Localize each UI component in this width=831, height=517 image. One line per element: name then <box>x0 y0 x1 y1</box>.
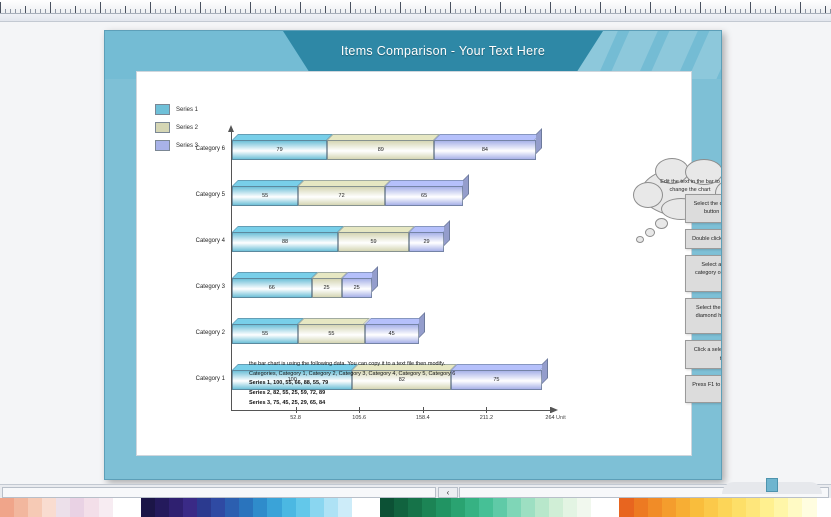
status-widget[interactable] <box>722 478 822 494</box>
palette-swatch[interactable] <box>619 498 633 517</box>
ruler-tick <box>700 2 701 13</box>
bar-segment-value: 65 <box>385 186 463 206</box>
data-text-intro: the bar chart is using the following dat… <box>249 360 609 370</box>
top-ruler <box>0 0 831 14</box>
bar-segment[interactable]: 65 <box>385 186 463 206</box>
ruler-tick <box>340 9 341 13</box>
ruler-tick <box>435 9 436 13</box>
ruler-tick <box>655 9 656 13</box>
palette-swatch[interactable] <box>634 498 648 517</box>
y-axis-arrow <box>228 125 234 132</box>
x-axis-tick-label: 158.4 <box>416 415 430 421</box>
data-text-series-3: Series 3, 75, 45, 25, 29, 65, 84 <box>249 399 609 409</box>
ruler-tick <box>215 9 216 13</box>
category-axis-label: Category 4 <box>173 238 225 244</box>
ruler-tick <box>615 9 616 13</box>
palette-swatch[interactable] <box>507 498 521 517</box>
ruler-tick <box>410 9 411 13</box>
ruler-tick <box>455 9 456 13</box>
bar-segment-value: 88 <box>232 232 338 252</box>
palette-swatch[interactable] <box>183 498 197 517</box>
bar-segment[interactable]: 59 <box>338 232 409 252</box>
palette-swatch[interactable] <box>352 498 366 517</box>
ruler-tick <box>765 9 766 13</box>
bar-segment[interactable]: 55 <box>232 324 298 344</box>
bar-segment-value: 55 <box>298 324 364 344</box>
bubble-tail-dot <box>636 236 644 243</box>
instruction-tip[interactable]: Select the chart and move the yellow dia… <box>685 298 722 335</box>
data-text-series-1: Series 1, 100, 55, 66, 88, 55, 79 <box>249 379 609 389</box>
scroll-track-left[interactable] <box>2 487 436 498</box>
ruler-tick <box>165 9 166 13</box>
ruler-tick <box>575 6 576 13</box>
ruler-tick <box>585 9 586 13</box>
ruler-tick <box>90 9 91 13</box>
palette-swatch[interactable] <box>704 498 718 517</box>
palette-swatch[interactable] <box>394 498 408 517</box>
bar-segment[interactable]: 72 <box>298 186 385 206</box>
x-axis-line <box>231 410 553 411</box>
ruler-tick <box>510 9 511 13</box>
palette-swatch[interactable] <box>549 498 563 517</box>
ruler-tick <box>335 9 336 13</box>
ruler-tick <box>470 9 471 13</box>
palette-swatch[interactable] <box>225 498 239 517</box>
ruler-tick <box>220 9 221 13</box>
ruler-tick <box>520 9 521 13</box>
ruler-tick <box>500 2 501 13</box>
palette-swatch[interactable] <box>662 498 676 517</box>
slide-canvas[interactable]: Items Comparison - Your Text Here Series… <box>104 30 722 480</box>
bar-segment-side-face <box>419 312 425 338</box>
ruler-tick <box>115 9 116 13</box>
palette-swatch[interactable] <box>577 498 591 517</box>
x-axis-tick-label: 211.2 <box>480 415 493 421</box>
ruler-tick <box>730 9 731 13</box>
status-tab[interactable] <box>766 478 778 492</box>
ruler-tick <box>535 9 536 13</box>
page-title: Items Comparison - Your Text Here <box>341 44 545 58</box>
palette-swatch[interactable] <box>84 498 98 517</box>
palette-swatch[interactable] <box>802 498 816 517</box>
ruler-tick <box>70 9 71 13</box>
ruler-tick <box>805 9 806 13</box>
ruler-tick <box>355 9 356 13</box>
ruler-tick <box>550 2 551 13</box>
bar-segment[interactable]: 29 <box>409 232 444 252</box>
ruler-tick <box>5 9 6 13</box>
ruler-tick <box>525 6 526 13</box>
bar-segment-side-face <box>463 174 469 200</box>
x-axis-tick-label: 264 <box>545 415 554 421</box>
bar-segment-value: 25 <box>312 278 342 298</box>
bar-segment-side-face <box>444 220 450 246</box>
palette-swatch[interactable] <box>267 498 281 517</box>
ruler-tick <box>685 9 686 13</box>
ruler-tick <box>250 2 251 13</box>
ruler-tick <box>745 9 746 13</box>
ruler-tick <box>15 9 16 13</box>
horizontal-scroll-area: ‹ <box>0 484 831 498</box>
bar-segment[interactable]: 88 <box>232 232 338 252</box>
palette-swatch[interactable] <box>774 498 788 517</box>
ruler-tick <box>95 9 96 13</box>
ruler-tick <box>460 9 461 13</box>
bubble-tail-dot <box>645 228 655 237</box>
ruler-tick <box>800 2 801 13</box>
bar-segment[interactable]: 89 <box>327 140 434 160</box>
ruler-tick <box>595 9 596 13</box>
ruler-tick <box>365 9 366 13</box>
palette-swatch[interactable] <box>197 498 211 517</box>
ruler-tick <box>795 9 796 13</box>
palette-swatch[interactable] <box>493 498 507 517</box>
ruler-tick <box>710 9 711 13</box>
palette-swatch[interactable] <box>169 498 183 517</box>
bar-segment[interactable]: 55 <box>298 324 364 344</box>
ruler-tick <box>385 9 386 13</box>
ruler-tick <box>450 2 451 13</box>
ruler-tick <box>295 9 296 13</box>
ruler-tick <box>195 9 196 13</box>
ruler-tick <box>145 9 146 13</box>
palette-swatch[interactable] <box>253 498 267 517</box>
palette-swatch[interactable] <box>788 498 802 517</box>
ruler-tick <box>245 9 246 13</box>
ruler-tick <box>100 2 101 13</box>
ruler-tick <box>300 2 301 13</box>
bar-segment-side-face <box>372 266 378 292</box>
x-axis-tick-label: 105.6 <box>352 415 366 421</box>
ruler-tick <box>760 9 761 13</box>
bubble-tail-dot <box>655 218 668 229</box>
ruler-tick <box>120 9 121 13</box>
palette-swatch[interactable] <box>42 498 56 517</box>
ruler-tick <box>625 6 626 13</box>
palette-swatch[interactable] <box>535 498 549 517</box>
ruler-tick <box>125 6 126 13</box>
palette-swatch[interactable] <box>338 498 352 517</box>
ruler-tick <box>170 9 171 13</box>
palette-swatch[interactable] <box>282 498 296 517</box>
bar-segment-value: 25 <box>342 278 372 298</box>
ruler-tick <box>720 9 721 13</box>
palette-swatch[interactable] <box>408 498 422 517</box>
palette-swatch[interactable] <box>591 498 605 517</box>
ruler-tick <box>780 9 781 13</box>
ruler-tick <box>255 9 256 13</box>
bar-segment[interactable]: 45 <box>365 324 419 344</box>
ruler-tick <box>55 9 56 13</box>
ruler-tick <box>320 9 321 13</box>
category-axis-label: Category 6 <box>173 146 225 152</box>
ruler-tick <box>810 9 811 13</box>
ruler-tick <box>190 9 191 13</box>
ruler-tick <box>285 9 286 13</box>
bar-segment-value: 59 <box>338 232 409 252</box>
palette-swatch[interactable] <box>648 498 662 517</box>
ruler-tick <box>545 9 546 13</box>
category-axis-label: Category 5 <box>173 192 225 198</box>
ruler-tick <box>305 9 306 13</box>
ruler-tick <box>345 9 346 13</box>
ruler-tick <box>280 9 281 13</box>
ruler-tick <box>785 9 786 13</box>
ruler-tick <box>85 9 86 13</box>
palette-swatch[interactable] <box>521 498 535 517</box>
ruler-tick <box>665 9 666 13</box>
ruler-tick <box>560 9 561 13</box>
ruler-tick <box>530 9 531 13</box>
ruler-tick <box>45 9 46 13</box>
ruler-tick <box>790 9 791 13</box>
ruler-tick <box>330 9 331 13</box>
ruler-tick <box>30 9 31 13</box>
palette-swatch[interactable] <box>211 498 225 517</box>
ruler-tick <box>0 2 1 13</box>
workspace: Items Comparison - Your Text Here Series… <box>0 22 831 484</box>
bar-segment-value: 45 <box>365 324 419 344</box>
palette-swatch[interactable] <box>690 498 704 517</box>
x-axis-unit-label: Unit <box>556 415 566 421</box>
ruler-tick <box>650 2 651 13</box>
instruction-tips-list: Select the chart and use floating action… <box>685 194 722 409</box>
chart-data-text: the bar chart is using the following dat… <box>249 360 609 408</box>
ruler-tick <box>820 9 821 13</box>
ruler-tick <box>695 9 696 13</box>
ruler-tick <box>645 9 646 13</box>
palette-swatch[interactable] <box>605 498 619 517</box>
ruler-tick <box>265 9 266 13</box>
ruler-tick <box>395 9 396 13</box>
ruler-tick <box>565 9 566 13</box>
ruler-tick <box>370 9 371 13</box>
ruler-tick <box>105 9 106 13</box>
palette-swatch[interactable] <box>760 498 774 517</box>
ruler-tick <box>480 9 481 13</box>
ruler-tick <box>20 9 21 13</box>
ruler-tick <box>360 9 361 13</box>
ruler-tick <box>505 9 506 13</box>
palette-swatch[interactable] <box>465 498 479 517</box>
color-palette-strip[interactable] <box>0 498 831 517</box>
palette-swatch[interactable] <box>141 498 155 517</box>
bar-segment[interactable]: 25 <box>342 278 372 298</box>
ruler-tick <box>400 2 401 13</box>
ruler-tick <box>65 9 66 13</box>
instruction-tip[interactable]: Double click to edit the data in the cha… <box>685 229 722 249</box>
ruler-tick <box>380 9 381 13</box>
ruler-tick <box>40 9 41 13</box>
palette-swatch[interactable] <box>817 498 831 517</box>
ruler-tick <box>475 6 476 13</box>
palette-swatch[interactable] <box>746 498 760 517</box>
instruction-tip[interactable]: Select a series sub shape in any categor… <box>685 255 722 292</box>
ruler-tick <box>315 9 316 13</box>
ruler-tick <box>260 9 261 13</box>
ruler-tick <box>80 9 81 13</box>
ruler-tick <box>290 9 291 13</box>
ruler-tick <box>715 9 716 13</box>
palette-swatch[interactable] <box>563 498 577 517</box>
ruler-tick <box>405 9 406 13</box>
ruler-tick <box>200 2 201 13</box>
ruler-tick <box>240 9 241 13</box>
palette-swatch[interactable] <box>28 498 42 517</box>
instruction-tip[interactable]: Click a selected shape, you can switch t… <box>685 340 722 369</box>
palette-swatch[interactable] <box>366 498 380 517</box>
ruler-tick <box>555 9 556 13</box>
category-axis-label: Category 2 <box>173 330 225 336</box>
ruler-tick <box>755 9 756 13</box>
ruler-tick <box>660 9 661 13</box>
instruction-tip[interactable]: Select the chart and use floating action… <box>685 194 722 223</box>
ruler-gap <box>0 14 831 22</box>
ruler-tick <box>675 6 676 13</box>
bar-segment-value: 55 <box>232 324 298 344</box>
bar-segment-value: 29 <box>409 232 444 252</box>
ruler-tick <box>25 6 26 13</box>
ruler-tick <box>570 9 571 13</box>
ruler-tick <box>640 9 641 13</box>
ruler-tick <box>140 9 141 13</box>
palette-swatch[interactable] <box>479 498 493 517</box>
ruler-tick <box>350 2 351 13</box>
palette-swatch[interactable] <box>324 498 338 517</box>
scroll-left-arrow-icon[interactable]: ‹ <box>438 487 458 498</box>
ruler-tick <box>635 9 636 13</box>
ruler-tick <box>590 9 591 13</box>
ruler-tick <box>690 9 691 13</box>
ruler-tick <box>440 9 441 13</box>
slide-title-ribbon[interactable]: Items Comparison - Your Text Here <box>283 31 603 71</box>
bubble-text: Edit the text in the bar to change the c… <box>651 178 722 195</box>
ruler-tick <box>35 9 36 13</box>
ruler-tick <box>705 9 706 13</box>
palette-swatch[interactable] <box>14 498 28 517</box>
ruler-tick <box>60 9 61 13</box>
category-axis-label: Category 1 <box>173 376 225 382</box>
ruler-tick <box>750 2 751 13</box>
ruler-tick <box>740 9 741 13</box>
bar-segment-value: 66 <box>232 278 312 298</box>
ruler-tick <box>825 6 826 13</box>
ruler-tick <box>175 6 176 13</box>
ruler-tick <box>275 6 276 13</box>
palette-swatch[interactable] <box>70 498 84 517</box>
ruler-tick <box>110 9 111 13</box>
bar-segment-value: 79 <box>232 140 327 160</box>
palette-swatch[interactable] <box>718 498 732 517</box>
palette-swatch[interactable] <box>380 498 394 517</box>
bar-segment[interactable]: 84 <box>434 140 535 160</box>
ruler-tick <box>775 6 776 13</box>
bar-segment-side-face <box>536 128 542 154</box>
ruler-tick <box>445 9 446 13</box>
ruler-tick <box>490 9 491 13</box>
category-axis-label: Category 3 <box>173 284 225 290</box>
bar-segment[interactable]: 55 <box>232 186 298 206</box>
palette-swatch[interactable] <box>310 498 324 517</box>
instruction-tip[interactable]: Press F1 to get more help from the PDF m… <box>685 375 722 404</box>
palette-swatch[interactable] <box>422 498 436 517</box>
palette-swatch[interactable] <box>0 498 14 517</box>
ruler-tick <box>630 9 631 13</box>
ruler-tick <box>430 9 431 13</box>
palette-swatch[interactable] <box>239 498 253 517</box>
ruler-tick <box>180 9 181 13</box>
palette-swatch[interactable] <box>155 498 169 517</box>
bar-segment-value: 84 <box>434 140 535 160</box>
ruler-tick <box>390 9 391 13</box>
ruler-tick <box>155 9 156 13</box>
ruler-tick <box>485 9 486 13</box>
ruler-tick <box>735 9 736 13</box>
ruler-tick <box>425 6 426 13</box>
ruler-tick <box>130 9 131 13</box>
ruler-tick <box>680 9 681 13</box>
bar-segment[interactable]: 79 <box>232 140 327 160</box>
ruler-tick <box>605 9 606 13</box>
ruler-tick <box>375 6 376 13</box>
ruler-tick <box>495 9 496 13</box>
ruler-tick <box>610 9 611 13</box>
bar-segment-value: 72 <box>298 186 385 206</box>
palette-swatch[interactable] <box>676 498 690 517</box>
palette-swatch[interactable] <box>56 498 70 517</box>
ruler-tick <box>540 9 541 13</box>
palette-swatch[interactable] <box>296 498 310 517</box>
ruler-tick <box>225 6 226 13</box>
ruler-tick <box>150 2 151 13</box>
bar-segment[interactable]: 66 <box>232 278 312 298</box>
ruler-tick <box>75 6 76 13</box>
ruler-tick <box>185 9 186 13</box>
chart-canvas[interactable]: Series 1Series 2Series 3 Unit 52.8105.61… <box>136 71 692 456</box>
ruler-tick <box>465 9 466 13</box>
ruler-tick <box>135 9 136 13</box>
ruler-tick <box>725 6 726 13</box>
ruler-tick <box>270 9 271 13</box>
ruler-tick <box>160 9 161 13</box>
ruler-tick <box>600 2 601 13</box>
ruler-tick <box>205 9 206 13</box>
palette-swatch[interactable] <box>113 498 127 517</box>
palette-swatch[interactable] <box>451 498 465 517</box>
ruler-tick <box>620 9 621 13</box>
palette-swatch[interactable] <box>127 498 141 517</box>
ruler-tick <box>50 2 51 13</box>
palette-swatch[interactable] <box>436 498 450 517</box>
data-text-series-2: Series 2, 82, 55, 25, 59, 72, 89 <box>249 389 609 399</box>
data-text-categories: Categories, Category 1, Category 2, Cate… <box>249 370 609 380</box>
ruler-tick <box>770 9 771 13</box>
ruler-tick <box>210 9 211 13</box>
palette-swatch[interactable] <box>732 498 746 517</box>
ruler-tick <box>515 9 516 13</box>
bar-segment-value: 55 <box>232 186 298 206</box>
ruler-tick <box>420 9 421 13</box>
bar-segment[interactable]: 25 <box>312 278 342 298</box>
ruler-tick <box>670 9 671 13</box>
ruler-tick <box>415 9 416 13</box>
ruler-tick <box>10 9 11 13</box>
ruler-tick <box>310 9 311 13</box>
palette-swatch[interactable] <box>99 498 113 517</box>
ruler-tick <box>325 6 326 13</box>
x-axis-tick-label: 52.8 <box>290 415 301 421</box>
ruler-tick <box>235 9 236 13</box>
